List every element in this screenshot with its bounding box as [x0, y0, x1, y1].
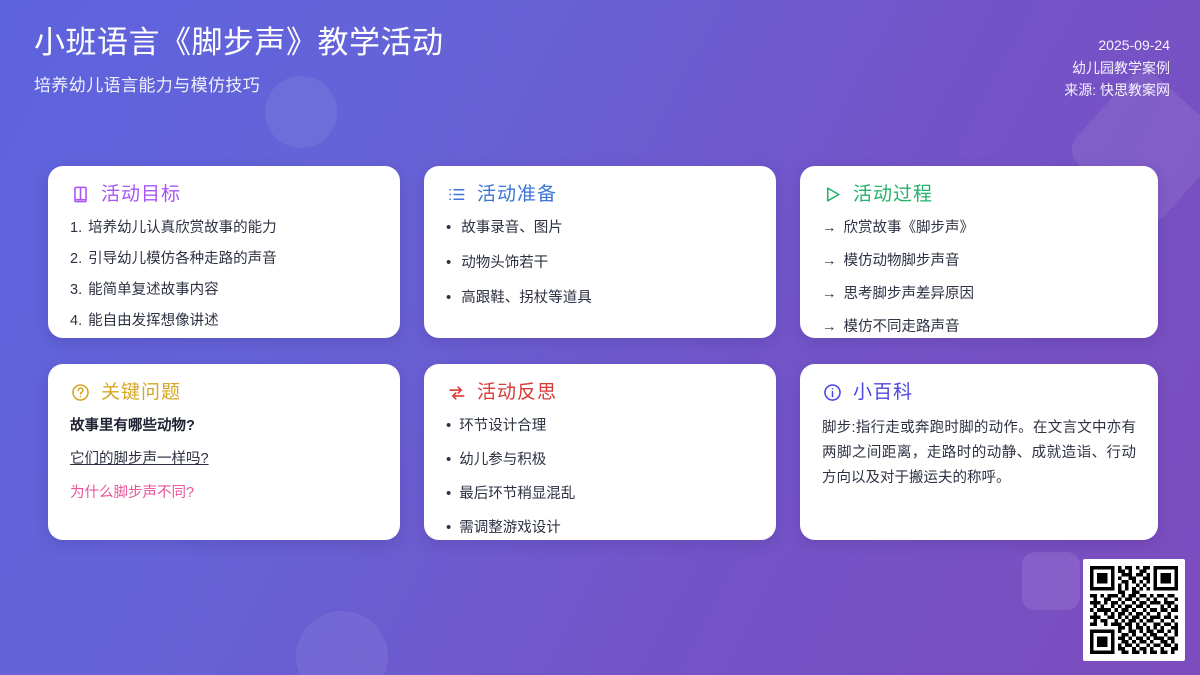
card-reflection: 活动反思 环节设计合理 幼儿参与积极 最后环节稍显混乱 需调整游戏设计: [424, 364, 776, 540]
list-item-text: 动物头饰若干: [461, 253, 548, 274]
list-item: 动物头饰若干: [446, 253, 754, 274]
list-item-text: 幼儿参与积极: [459, 450, 546, 471]
qr-code-canvas: [1090, 566, 1178, 654]
encyclopedia-text: 脚步:指行走或奔跑时脚的动作。在文言文中亦有两脚之间距离，走路时的动静、成就造诣…: [822, 416, 1136, 491]
list-icon: [446, 184, 467, 205]
list-item-text: 欣赏故事《脚步声》: [844, 218, 975, 239]
list-item-text: 能简单复述故事内容: [88, 280, 219, 301]
card-preparation-title: 活动准备: [477, 185, 557, 204]
list-item-text: 模仿不同走路声音: [844, 317, 960, 338]
list-item-text: 引导幼儿模仿各种走路的声音: [88, 249, 277, 270]
card-reflection-title: 活动反思: [477, 383, 557, 402]
card-encyclopedia-header: 小百科: [822, 382, 1136, 403]
list-item-text: 最后环节稍显混乱: [459, 484, 575, 505]
list-item: 需调整游戏设计: [446, 518, 754, 539]
list-item: 3.能简单复述故事内容: [70, 280, 378, 301]
card-key-questions: 关键问题 故事里有哪些动物? 它们的脚步声一样吗? 为什么脚步声不同?: [48, 364, 400, 540]
title-block: 小班语言《脚步声》教学活动 培养幼儿语言能力与模仿技巧: [34, 24, 444, 96]
card-key-questions-title: 关键问题: [101, 383, 181, 402]
list-item: 环节设计合理: [446, 416, 754, 437]
card-key-questions-header: 关键问题: [70, 382, 378, 403]
meta-source: 来源: 快思教案网: [1064, 79, 1170, 102]
meta-category: 幼儿园教学案例: [1064, 57, 1170, 80]
list-item-text: 需调整游戏设计: [459, 518, 561, 539]
refresh-cycle-icon: [446, 382, 467, 403]
key-questions-list: 故事里有哪些动物? 它们的脚步声一样吗? 为什么脚步声不同?: [70, 416, 378, 503]
card-objectives-header: 活动目标: [70, 184, 378, 205]
page-title: 小班语言《脚步声》教学活动: [34, 24, 444, 63]
card-encyclopedia-title: 小百科: [853, 383, 913, 402]
meta-date: 2025-09-24: [1064, 34, 1170, 57]
list-item: 幼儿参与积极: [446, 450, 754, 471]
card-process-title: 活动过程: [853, 185, 933, 204]
card-objectives: 活动目标 1.培养幼儿认真欣赏故事的能力 2.引导幼儿模仿各种走路的声音 3.能…: [48, 166, 400, 338]
reflection-list: 环节设计合理 幼儿参与积极 最后环节稍显混乱 需调整游戏设计: [446, 416, 754, 539]
list-item: 欣赏故事《脚步声》: [822, 218, 1136, 239]
list-item-text: 故事录音、图片: [461, 218, 563, 239]
card-objectives-title: 活动目标: [101, 185, 181, 204]
list-item: 模仿动物脚步声音: [822, 251, 1136, 272]
card-preparation-header: 活动准备: [446, 184, 754, 205]
list-item-text: 培养幼儿认真欣赏故事的能力: [88, 218, 277, 239]
list-item-text: 高跟鞋、拐杖等道具: [461, 288, 592, 309]
list-item-text: 能自由发挥想像讲述: [88, 311, 219, 332]
list-item-number: 3.: [70, 280, 82, 301]
slide-header: 小班语言《脚步声》教学活动 培养幼儿语言能力与模仿技巧 2025-09-24 幼…: [0, 0, 1200, 102]
card-process: 活动过程 欣赏故事《脚步声》 模仿动物脚步声音 思考脚步声差异原因 模仿不同走路…: [800, 166, 1158, 338]
list-item: 故事录音、图片: [446, 218, 754, 239]
card-preparation: 活动准备 故事录音、图片 动物头饰若干 高跟鞋、拐杖等道具: [424, 166, 776, 338]
list-item-number: 1.: [70, 218, 82, 239]
list-item-text: 模仿动物脚步声音: [844, 251, 960, 272]
card-encyclopedia: 小百科 脚步:指行走或奔跑时脚的动作。在文言文中亦有两脚之间距离，走路时的动静、…: [800, 364, 1158, 540]
list-item: 高跟鞋、拐杖等道具: [446, 288, 754, 309]
qr-code[interactable]: [1083, 559, 1185, 661]
list-item-number: 4.: [70, 311, 82, 332]
process-list: 欣赏故事《脚步声》 模仿动物脚步声音 思考脚步声差异原因 模仿不同走路声音: [822, 218, 1136, 338]
book-icon: [70, 184, 91, 205]
list-item: 1.培养幼儿认真欣赏故事的能力: [70, 218, 378, 239]
question-circle-icon: [70, 382, 91, 403]
info-circle-icon: [822, 382, 843, 403]
list-item: 思考脚步声差异原因: [822, 284, 1136, 305]
card-process-header: 活动过程: [822, 184, 1136, 205]
decorative-circle-bottom: [296, 611, 388, 675]
slide-root: 小班语言《脚步声》教学活动 培养幼儿语言能力与模仿技巧 2025-09-24 幼…: [0, 0, 1200, 675]
list-item: 它们的脚步声一样吗?: [70, 449, 378, 469]
list-item: 故事里有哪些动物?: [70, 416, 378, 436]
decorative-square-near-qr: [1022, 552, 1080, 610]
list-item-text: 环节设计合理: [459, 416, 546, 437]
play-icon: [822, 184, 843, 205]
card-grid: 活动目标 1.培养幼儿认真欣赏故事的能力 2.引导幼儿模仿各种走路的声音 3.能…: [48, 166, 1158, 540]
objectives-list: 1.培养幼儿认真欣赏故事的能力 2.引导幼儿模仿各种走路的声音 3.能简单复述故…: [70, 218, 378, 332]
header-meta: 2025-09-24 幼儿园教学案例 来源: 快思教案网: [1064, 24, 1170, 102]
list-item: 为什么脚步声不同?: [70, 483, 378, 503]
list-item-text: 思考脚步声差异原因: [844, 284, 975, 305]
list-item: 模仿不同走路声音: [822, 317, 1136, 338]
preparation-list: 故事录音、图片 动物头饰若干 高跟鞋、拐杖等道具: [446, 218, 754, 309]
list-item: 最后环节稍显混乱: [446, 484, 754, 505]
list-item: 2.引导幼儿模仿各种走路的声音: [70, 249, 378, 270]
card-reflection-header: 活动反思: [446, 382, 754, 403]
list-item-number: 2.: [70, 249, 82, 270]
list-item: 4.能自由发挥想像讲述: [70, 311, 378, 332]
page-subtitle: 培养幼儿语言能力与模仿技巧: [34, 71, 444, 96]
